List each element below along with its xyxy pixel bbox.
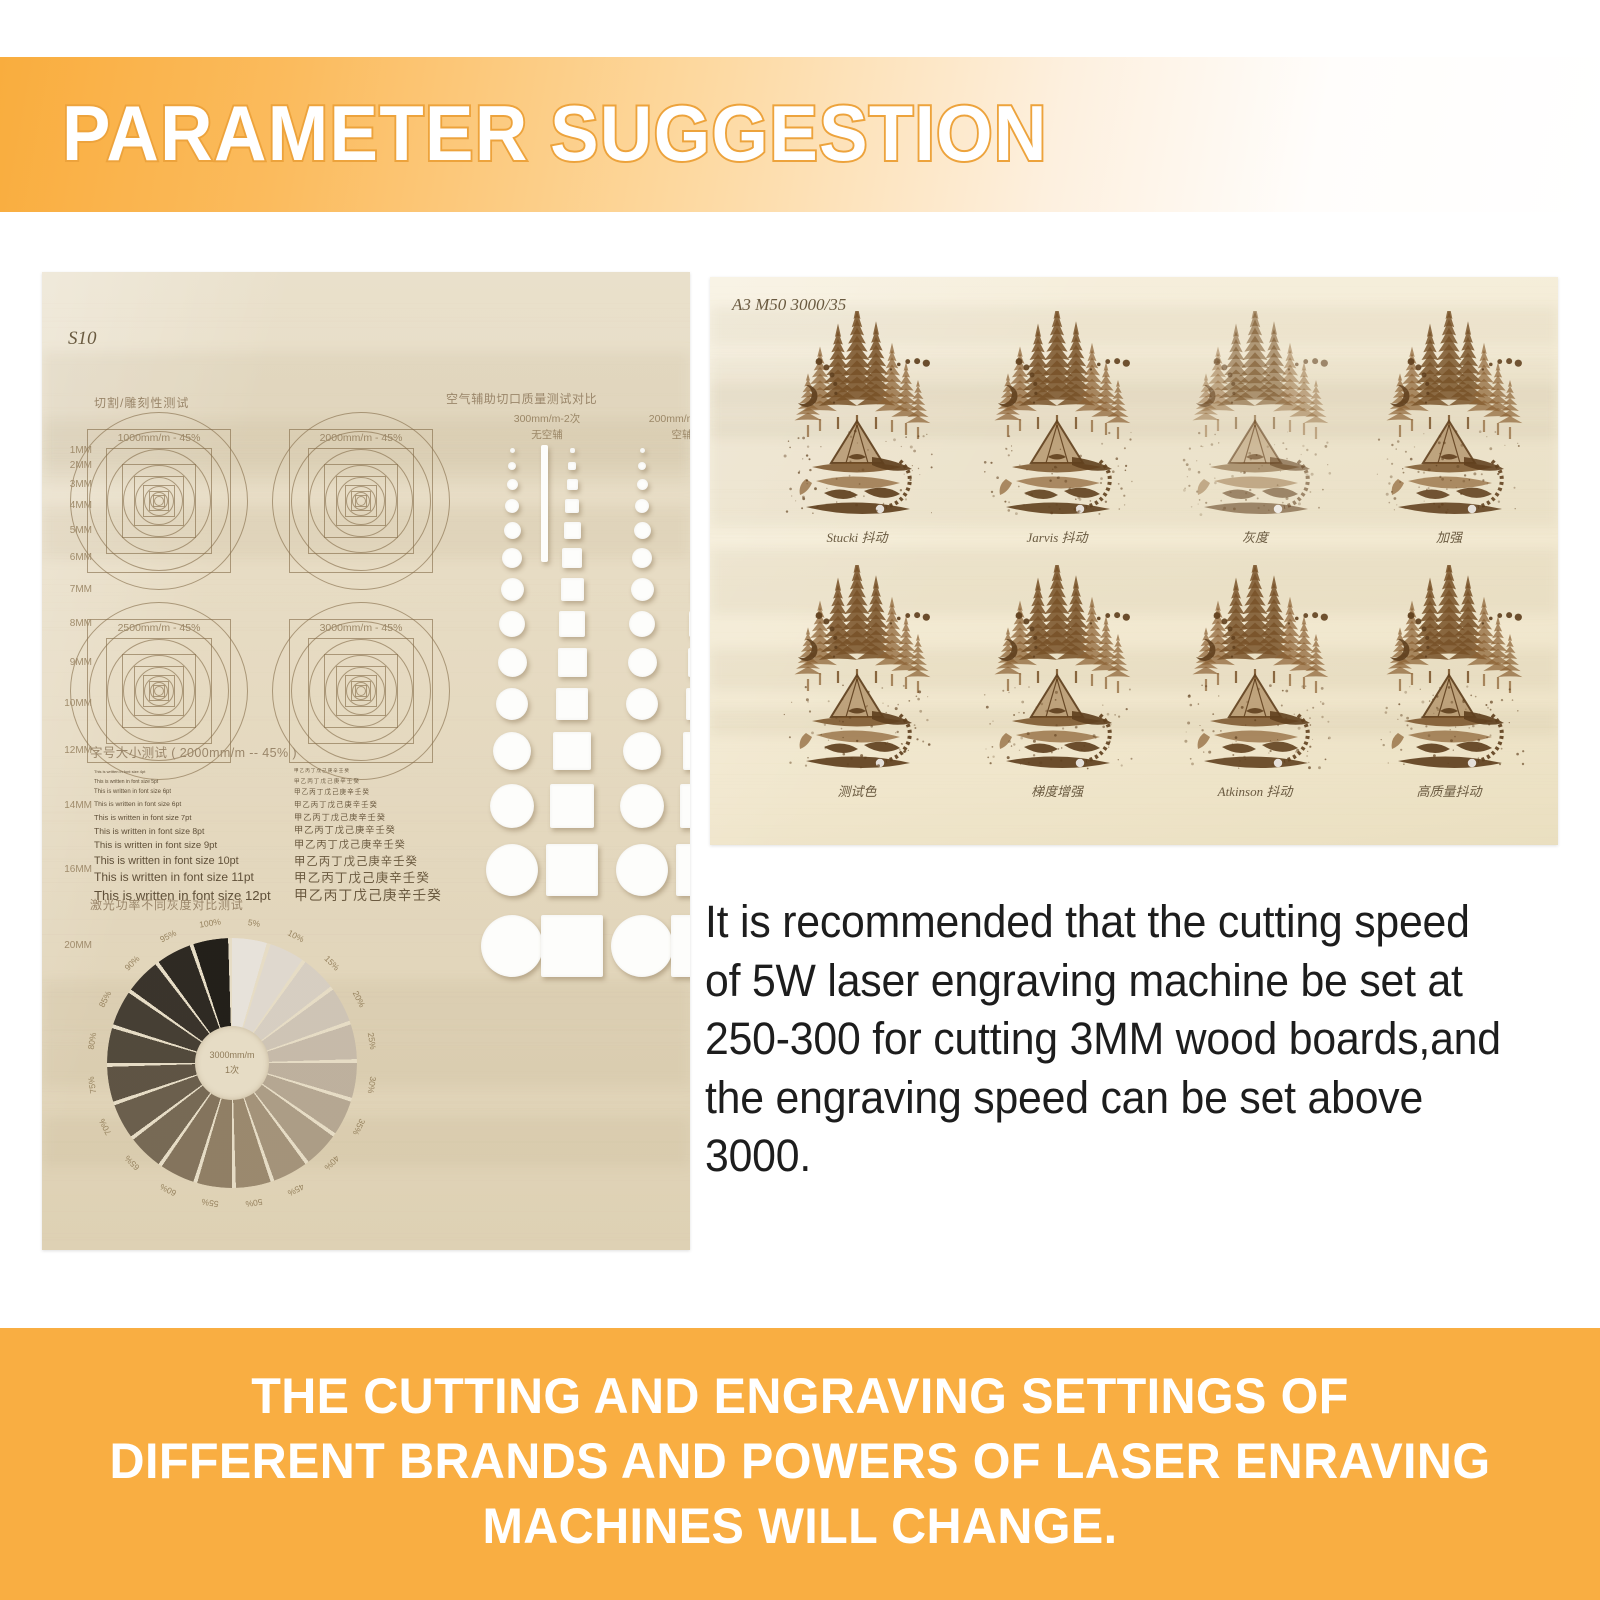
engraving-sample-caption: Jarvis 抖动 — [968, 527, 1146, 546]
wheel-percent-label: 25% — [365, 1027, 379, 1054]
wheel-percent-label: 50% — [241, 1196, 268, 1210]
circle-test-label: 2500mm/m - 45% — [70, 622, 248, 634]
wheel-percent-label: 95% — [154, 926, 182, 947]
wheel-percent-label: 70% — [95, 1114, 116, 1142]
cut-hole — [611, 915, 673, 977]
wheel-percent-label: 75% — [85, 1072, 99, 1099]
engraving-sample-caption: 加强 — [1360, 527, 1538, 546]
cut-size-label: 8MM — [48, 618, 92, 629]
circle-test-label: 3000mm/m - 45% — [272, 622, 450, 634]
cut-hole — [565, 499, 579, 513]
power-wheel-title: 激光功率不同灰度对比测试 — [90, 896, 244, 913]
engraving-sample-caption: 测试色 — [768, 781, 946, 800]
font-test-line-cn: 甲乙丙丁戊己庚辛壬癸 — [294, 887, 442, 906]
cut-hole — [499, 611, 525, 637]
engraving-artwork — [1166, 565, 1344, 775]
cut-hole — [564, 522, 581, 539]
footer-line-2: DIFFERENT BRANDS AND POWERS OF LASER ENR… — [24, 1429, 1576, 1494]
circle-test-label: 1000mm/m - 45% — [70, 432, 248, 444]
font-test-line-cn: 甲乙丙丁戊己庚辛壬癸 — [294, 767, 442, 777]
circles-section-title: 切割/雕刻性测试 — [94, 394, 189, 411]
wheel-percent-label: 10% — [283, 926, 311, 947]
wheel-percent-label: 35% — [348, 1114, 369, 1142]
circle-test-2: 2000mm/m - 45% — [272, 412, 450, 590]
wheel-percent-label: 15% — [320, 950, 345, 975]
cut-hole — [493, 732, 531, 770]
cut-hole — [553, 732, 591, 770]
engraving-sample — [1166, 311, 1344, 521]
engraving-sample-caption: 灰度 — [1166, 527, 1344, 546]
font-test-english-block: This is written in font size 4ptThis is … — [94, 767, 271, 906]
cut-hole — [683, 732, 690, 770]
footer-line-1: THE CUTTING AND ENGRAVING SETTINGS OF — [24, 1364, 1576, 1429]
engraving-sample — [1166, 565, 1344, 775]
engraving-artwork — [1166, 311, 1344, 521]
cut-hole — [562, 548, 582, 568]
wheel-percent-label: 30% — [365, 1072, 379, 1099]
engraving-artwork — [1360, 565, 1538, 775]
wheel-percent-label: 20% — [348, 985, 369, 1013]
cut-size-label: 3MM — [48, 479, 92, 490]
font-test-line-cn: 甲乙丙丁戊己庚辛壬癸 — [294, 838, 442, 853]
engraving-artwork — [1360, 311, 1538, 521]
cut-hole — [635, 499, 649, 513]
cut-hole — [490, 784, 534, 828]
cut-hole — [671, 915, 690, 977]
cut-size-label: 4MM — [48, 500, 92, 511]
font-test-line: This is written in font size 6pt — [94, 787, 271, 799]
footer-line-3: MACHINES WILL CHANGE. — [24, 1494, 1576, 1559]
font-test-line-cn: 甲乙丙丁戊己庚辛壬癸 — [294, 869, 442, 887]
cut-hole — [631, 578, 654, 601]
cut-size-label: 2MM — [48, 460, 92, 471]
engraving-sample — [1360, 311, 1538, 521]
cut-hole — [676, 844, 690, 896]
recommendation-paragraph: It is recommended that the cutting speed… — [705, 893, 1513, 1186]
cut-hole — [559, 611, 585, 637]
wheel-hub-passes: 1次 — [225, 1063, 239, 1078]
engraving-sample — [768, 311, 946, 521]
cut-hole — [623, 732, 661, 770]
engraving-sample-caption: Stucki 抖动 — [768, 527, 946, 546]
font-test-line: This is written in font size 9pt — [94, 838, 271, 853]
cut-hole — [502, 548, 522, 568]
cut-hole — [486, 844, 538, 896]
cut-hole — [638, 462, 646, 470]
engraving-artwork — [968, 565, 1146, 775]
cut-hole — [501, 578, 524, 601]
engraving-sample — [768, 565, 946, 775]
cut-hole — [498, 648, 527, 677]
cut-hole — [688, 648, 691, 677]
page-title: PARAMETER SUGGESTION — [62, 88, 1048, 179]
cut-hole — [508, 462, 516, 470]
cut-hole — [568, 462, 576, 470]
wheel-percent-label: 65% — [119, 1151, 144, 1176]
font-test-line: This is written in font size 5pt — [94, 777, 271, 788]
cut-hole — [616, 844, 668, 896]
cut-hole — [680, 784, 690, 828]
cut-hole — [632, 548, 652, 568]
cut-strip-sample — [541, 445, 548, 562]
cut-hole — [689, 611, 690, 637]
cut-hole — [561, 578, 584, 601]
engraving-sample — [1360, 565, 1538, 775]
cut-hole — [570, 448, 575, 453]
cut-hole — [504, 522, 521, 539]
power-grayscale-wheel: 3000mm/m 1次 5%10%15%20%25%30%35%40%45%50… — [72, 920, 392, 1240]
cut-hole — [637, 479, 648, 490]
cut-hole — [496, 688, 528, 720]
wheel-percent-label: 90% — [119, 950, 144, 975]
cut-hole — [629, 611, 655, 637]
cut-hole — [510, 448, 515, 453]
font-test-line: This is written in font size 8pt — [94, 824, 271, 838]
font-test-line: This is written in font size 10pt — [94, 853, 271, 869]
cut-size-label: 6MM — [48, 552, 92, 563]
cut-hole — [481, 915, 543, 977]
board-code-handwriting: S10 — [68, 328, 97, 350]
wheel-hub-label: 3000mm/m 1次 — [195, 1026, 269, 1100]
cut-size-label: 12MM — [48, 745, 92, 756]
circle-test-4: 3000mm/m - 45% — [272, 602, 450, 780]
font-test-line: This is written in font size 7pt — [94, 811, 271, 824]
cut-hole — [626, 688, 658, 720]
engraving-sample-caption: 高质量抖动 — [1360, 781, 1538, 800]
cut-hole — [634, 522, 651, 539]
wheel-percent-label: 40% — [320, 1151, 345, 1176]
wheel-percent-label: 85% — [95, 985, 116, 1013]
wheel-hub-speed: 3000mm/m — [209, 1048, 254, 1063]
font-test-line-cn: 甲乙丙丁戊己庚辛壬癸 — [294, 811, 442, 824]
cut-column-header-2: 200mm/m-1次空辅 — [607, 412, 690, 444]
font-test-line: This is written in font size 11pt — [94, 869, 271, 887]
cut-hole — [556, 688, 588, 720]
cut-hole — [558, 648, 587, 677]
font-test-line: This is written in font size 6pt — [94, 799, 271, 811]
cut-column-header-1: 300mm/m-2次无空辅 — [472, 412, 622, 444]
cut-hole — [541, 915, 603, 977]
cut-size-label: 1MM — [48, 445, 92, 456]
cut-hole — [628, 648, 657, 677]
left-test-board-photo: S10 切割/雕刻性测试 1000mm/m - 45%2000mm/m - 45… — [42, 272, 690, 1250]
font-test-line-cn: 甲乙丙丁戊己庚辛壬癸 — [294, 777, 442, 788]
cut-hole — [507, 479, 518, 490]
cuts-section-title: 空气辅助切口质量测试对比 — [446, 390, 597, 407]
circle-test-label: 2000mm/m - 45% — [272, 432, 450, 444]
cut-hole — [550, 784, 594, 828]
cut-size-label: 14MM — [48, 800, 92, 811]
font-test-line-cn: 甲乙丙丁戊己庚辛壬癸 — [294, 824, 442, 838]
wheel-percent-label: 60% — [154, 1179, 182, 1200]
cut-hole — [620, 784, 664, 828]
cut-size-label: 16MM — [48, 864, 92, 875]
cut-hole — [567, 479, 578, 490]
engraving-sample — [968, 565, 1146, 775]
font-test-line-cn: 甲乙丙丁戊己庚辛壬癸 — [294, 853, 442, 869]
footer-text: THE CUTTING AND ENGRAVING SETTINGS OF DI… — [24, 1364, 1576, 1559]
right-engraving-board-photo: A3 M50 3000/35 Stucki 抖动Jarvis 抖动灰度加强测试色… — [710, 277, 1558, 845]
engraving-sample-caption: Atkinson 抖动 — [1166, 781, 1344, 800]
font-test-chinese-block: 甲乙丙丁戊己庚辛壬癸甲乙丙丁戊己庚辛壬癸甲乙丙丁戊己庚辛壬癸甲乙丙丁戊己庚辛壬癸… — [294, 767, 442, 906]
wheel-percent-label: 45% — [283, 1179, 311, 1200]
engraving-sample — [968, 311, 1146, 521]
cut-size-label: 9MM — [48, 657, 92, 668]
engraving-artwork — [968, 311, 1146, 521]
cut-size-label: 10MM — [48, 698, 92, 709]
font-test-line-cn: 甲乙丙丁戊己庚辛壬癸 — [294, 787, 442, 799]
font-test-title: 字号大小测试 ( 2000mm/m -- 45% ) — [90, 742, 297, 761]
engraving-artwork — [768, 311, 946, 521]
font-test-line: This is written in font size 4pt — [94, 767, 271, 777]
wheel-percent-label: 55% — [196, 1196, 223, 1210]
cut-size-label: 5MM — [48, 525, 92, 536]
cut-hole — [505, 499, 519, 513]
engraving-sample-caption: 梯度增强 — [968, 781, 1146, 800]
circle-test-1: 1000mm/m - 45% — [70, 412, 248, 590]
cut-size-label: 7MM — [48, 584, 92, 595]
font-test-line-cn: 甲乙丙丁戊己庚辛壬癸 — [294, 799, 442, 811]
cut-hole — [546, 844, 598, 896]
wheel-percent-label: 80% — [85, 1027, 99, 1054]
cut-hole — [686, 688, 690, 720]
cut-hole — [640, 448, 645, 453]
engraving-artwork — [768, 565, 946, 775]
